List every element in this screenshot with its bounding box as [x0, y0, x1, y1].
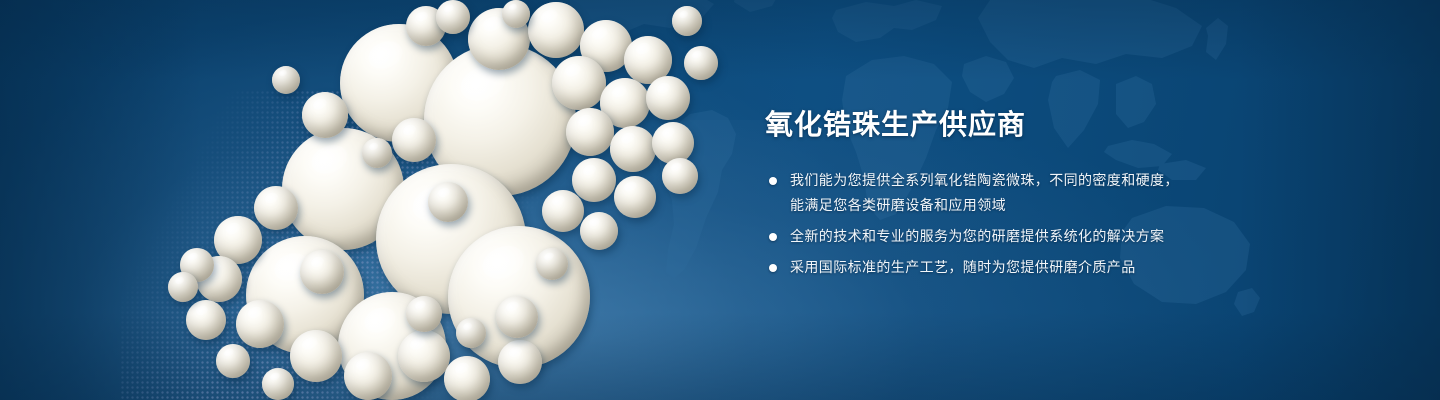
hero-banner: 氧化锆珠生产供应商 我们能为您提供全系列氧化锆陶瓷微珠，不同的密度和硬度， 能满… — [0, 0, 1440, 400]
list-item: 全新的技术和专业的服务为您的研磨提供系统化的解决方案 — [765, 224, 1385, 249]
list-item-line: 能满足您各类研磨设备和应用领域 — [790, 193, 1385, 218]
page-title: 氧化锆珠生产供应商 — [765, 108, 1385, 142]
zirconia-bead-cluster-image — [0, 0, 780, 400]
list-item: 采用国际标准的生产工艺，随时为您提供研磨介质产品 — [765, 255, 1385, 280]
list-item-line: 我们能为您提供全系列氧化锆陶瓷微珠，不同的密度和硬度， — [790, 168, 1385, 193]
list-item-line: 全新的技术和专业的服务为您的研磨提供系统化的解决方案 — [790, 224, 1385, 249]
banner-copy: 氧化锆珠生产供应商 我们能为您提供全系列氧化锆陶瓷微珠，不同的密度和硬度， 能满… — [765, 108, 1385, 280]
list-item-line: 采用国际标准的生产工艺，随时为您提供研磨介质产品 — [790, 255, 1385, 280]
bullet-dot-icon — [769, 177, 777, 185]
bullet-dot-icon — [769, 264, 777, 272]
bullet-dot-icon — [769, 233, 777, 241]
list-item: 我们能为您提供全系列氧化锆陶瓷微珠，不同的密度和硬度， 能满足您各类研磨设备和应… — [765, 168, 1385, 218]
feature-list: 我们能为您提供全系列氧化锆陶瓷微珠，不同的密度和硬度， 能满足您各类研磨设备和应… — [765, 168, 1385, 280]
